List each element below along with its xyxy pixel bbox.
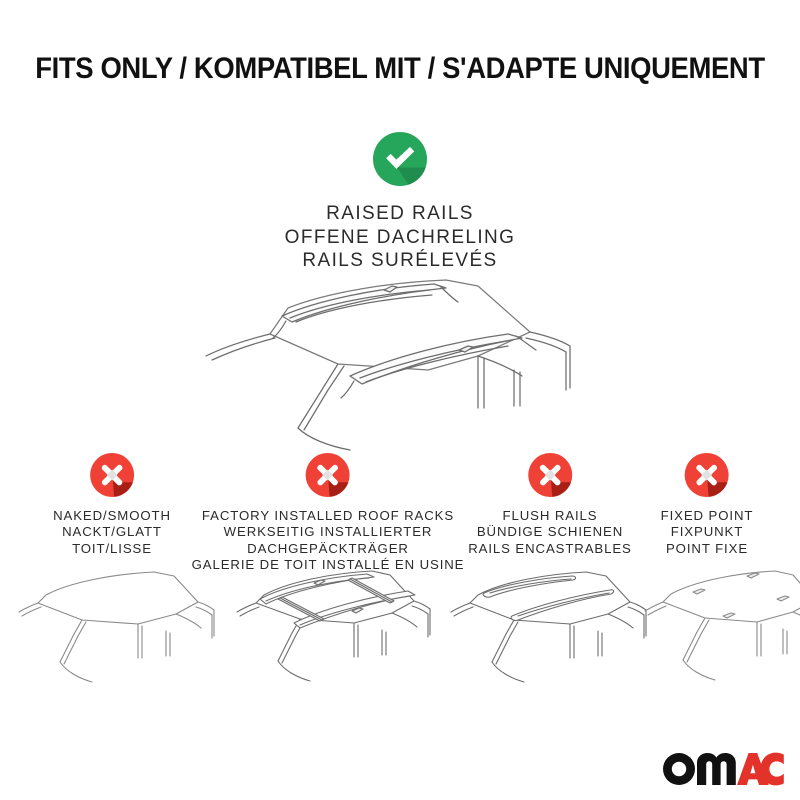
label-line-3: RAILS ENCASTRABLES: [468, 541, 632, 557]
label-line-1: FLUSH RAILS: [468, 508, 632, 524]
omac-logo: [662, 752, 784, 786]
label-line-1: FIXED POINT: [661, 508, 754, 524]
label-line-2: WERKSEITIG INSTALLIERTER: [192, 524, 465, 540]
label-line-3: POINT FIXE: [661, 541, 754, 557]
incompatible-label-fixed-point: FIXED POINT FIXPUNKT POINT FIXE: [661, 508, 754, 557]
logo-letter-o: [663, 753, 695, 785]
compatible-label-line-1: RAISED RAILS: [285, 202, 516, 226]
check-circle-icon: [373, 132, 427, 186]
car-roof-naked-smooth-illustration: [8, 558, 218, 698]
incompatible-label-naked-smooth: NAKED/SMOOTH NACKT/GLATT TOIT/LISSE: [53, 508, 171, 557]
incompatible-item-flush-rails: FLUSH RAILS BÜNDIGE SCHIENEN RAILS ENCAS…: [468, 453, 632, 557]
label-line-2: NACKT/GLATT: [53, 524, 171, 540]
incompatible-label-flush-rails: FLUSH RAILS BÜNDIGE SCHIENEN RAILS ENCAS…: [468, 508, 632, 557]
incompatible-item-naked-smooth: NAKED/SMOOTH NACKT/GLATT TOIT/LISSE: [53, 453, 171, 557]
car-roof-raised-rails-illustration: [178, 278, 618, 454]
compatible-section: RAISED RAILS OFFENE DACHRELING RAILS SUR…: [0, 132, 800, 273]
compatible-label-line-3: RAILS SURÉLEVÉS: [285, 249, 516, 273]
page-title: FITS ONLY / KOMPATIBEL MIT / S'ADAPTE UN…: [28, 52, 772, 86]
label-line-2: BÜNDIGE SCHIENEN: [468, 524, 632, 540]
x-circle-icon: [90, 453, 134, 497]
label-line-3: TOIT/LISSE: [53, 541, 171, 557]
car-roof-factory-roof-rack-illustration: [222, 553, 432, 693]
label-line-1: NAKED/SMOOTH: [53, 508, 171, 524]
car-roof-fixed-point-illustration: [622, 556, 800, 696]
label-line-1: FACTORY INSTALLED ROOF RACKS: [192, 508, 465, 524]
compatible-label: RAISED RAILS OFFENE DACHRELING RAILS SUR…: [285, 202, 516, 273]
label-line-2: FIXPUNKT: [661, 524, 754, 540]
incompatible-item-fixed-point: FIXED POINT FIXPUNKT POINT FIXE: [661, 453, 754, 557]
x-circle-icon: [685, 453, 729, 497]
compatible-label-line-2: OFFENE DACHRELING: [285, 226, 516, 250]
car-roof-flush-rails-illustration: [440, 558, 650, 698]
logo-letter-m: [697, 753, 736, 785]
x-circle-icon: [306, 453, 350, 497]
x-circle-icon: [528, 453, 572, 497]
